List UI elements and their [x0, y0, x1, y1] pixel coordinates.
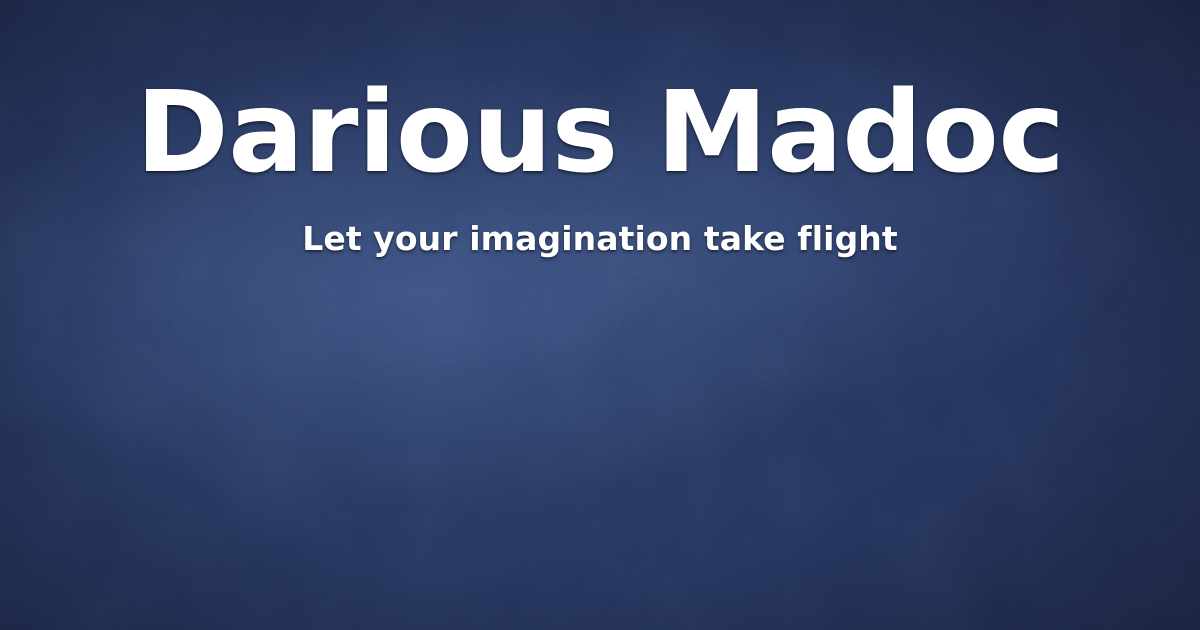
title-banner: Darious Madoc Let your imagination take …	[0, 0, 1200, 630]
page-title: Darious Madoc	[0, 77, 1200, 189]
banner-content: Darious Madoc Let your imagination take …	[0, 0, 1200, 630]
page-subtitle: Let your imagination take flight	[0, 222, 1200, 255]
